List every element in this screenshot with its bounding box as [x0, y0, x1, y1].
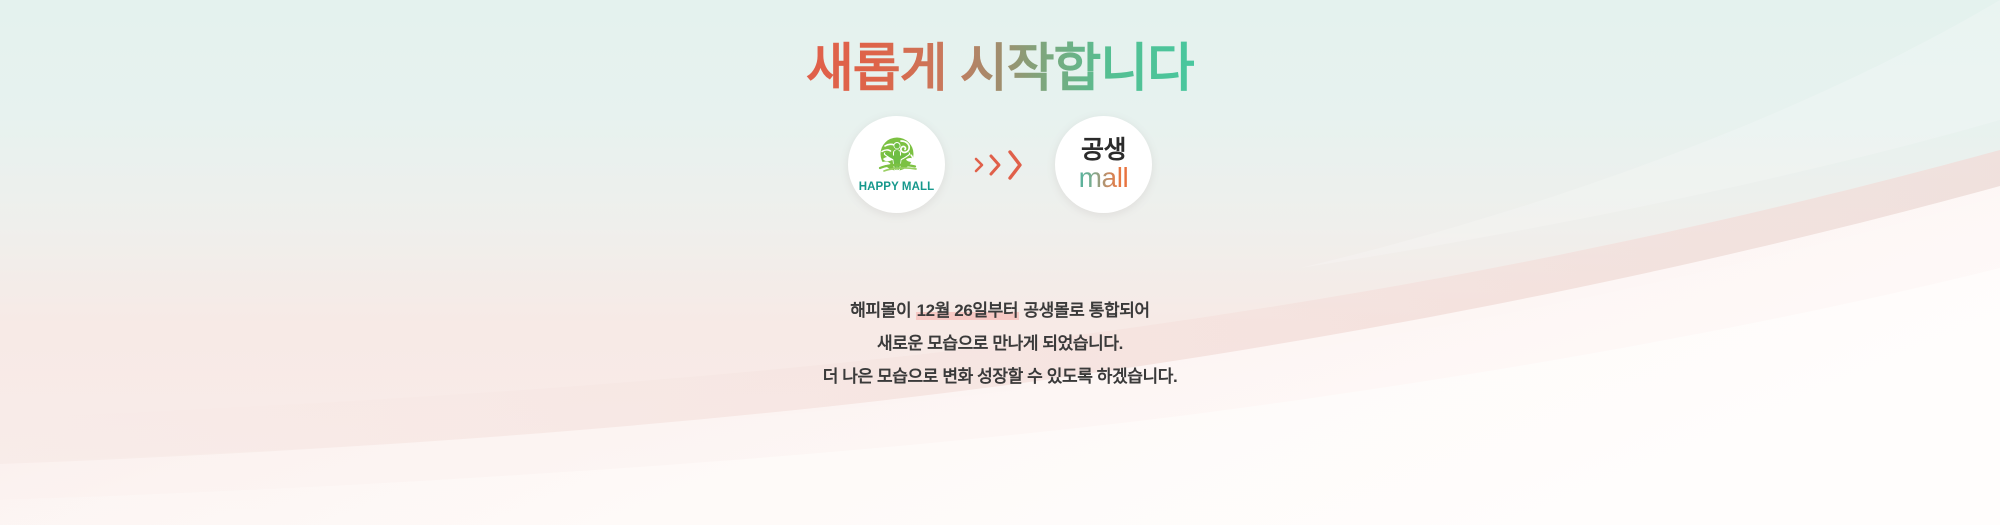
announcement-line-1: 해피몰이 12월 26일부터 공생몰로 통합되어: [0, 294, 2000, 327]
promo-banner: 새롭게 시작합니다: [0, 0, 2000, 525]
chevron-right-icon-small: [973, 155, 986, 175]
logo-transition-row: HAPPY MALL 공생 mall: [0, 116, 2000, 213]
announcement-line-2: 새로운 모습으로 만나게 되었습니다.: [0, 327, 2000, 360]
headline: 새롭게 시작합니다: [0, 40, 2000, 100]
line1-before: 해피몰이: [850, 301, 915, 320]
line1-after: 공생몰로 통합되어: [1019, 301, 1150, 320]
old-brand-logo[interactable]: HAPPY MALL: [848, 116, 945, 213]
transition-arrow: [971, 146, 1029, 184]
new-brand-logo[interactable]: 공생 mall: [1055, 116, 1152, 213]
integration-date-highlight: 12월 26일부터: [916, 301, 1020, 320]
happy-mall-globe-person-icon: [872, 136, 922, 180]
headline-text: 새롭게 시작합니다: [806, 40, 1194, 100]
announcement-text: 해피몰이 12월 26일부터 공생몰로 통합되어 새로운 모습으로 만나게 되었…: [0, 294, 2000, 393]
announcement-line-3: 더 나은 모습으로 변화 성장할 수 있도록 하겠습니다.: [0, 360, 2000, 393]
chevron-right-icon-large: [1005, 146, 1027, 184]
gongsaeng-wordmark-ko: 공생: [1081, 138, 1126, 163]
chevron-right-icon-medium: [987, 151, 1004, 179]
gongsaeng-wordmark-en: mall: [1079, 164, 1129, 192]
happy-mall-wordmark: HAPPY MALL: [859, 181, 935, 193]
